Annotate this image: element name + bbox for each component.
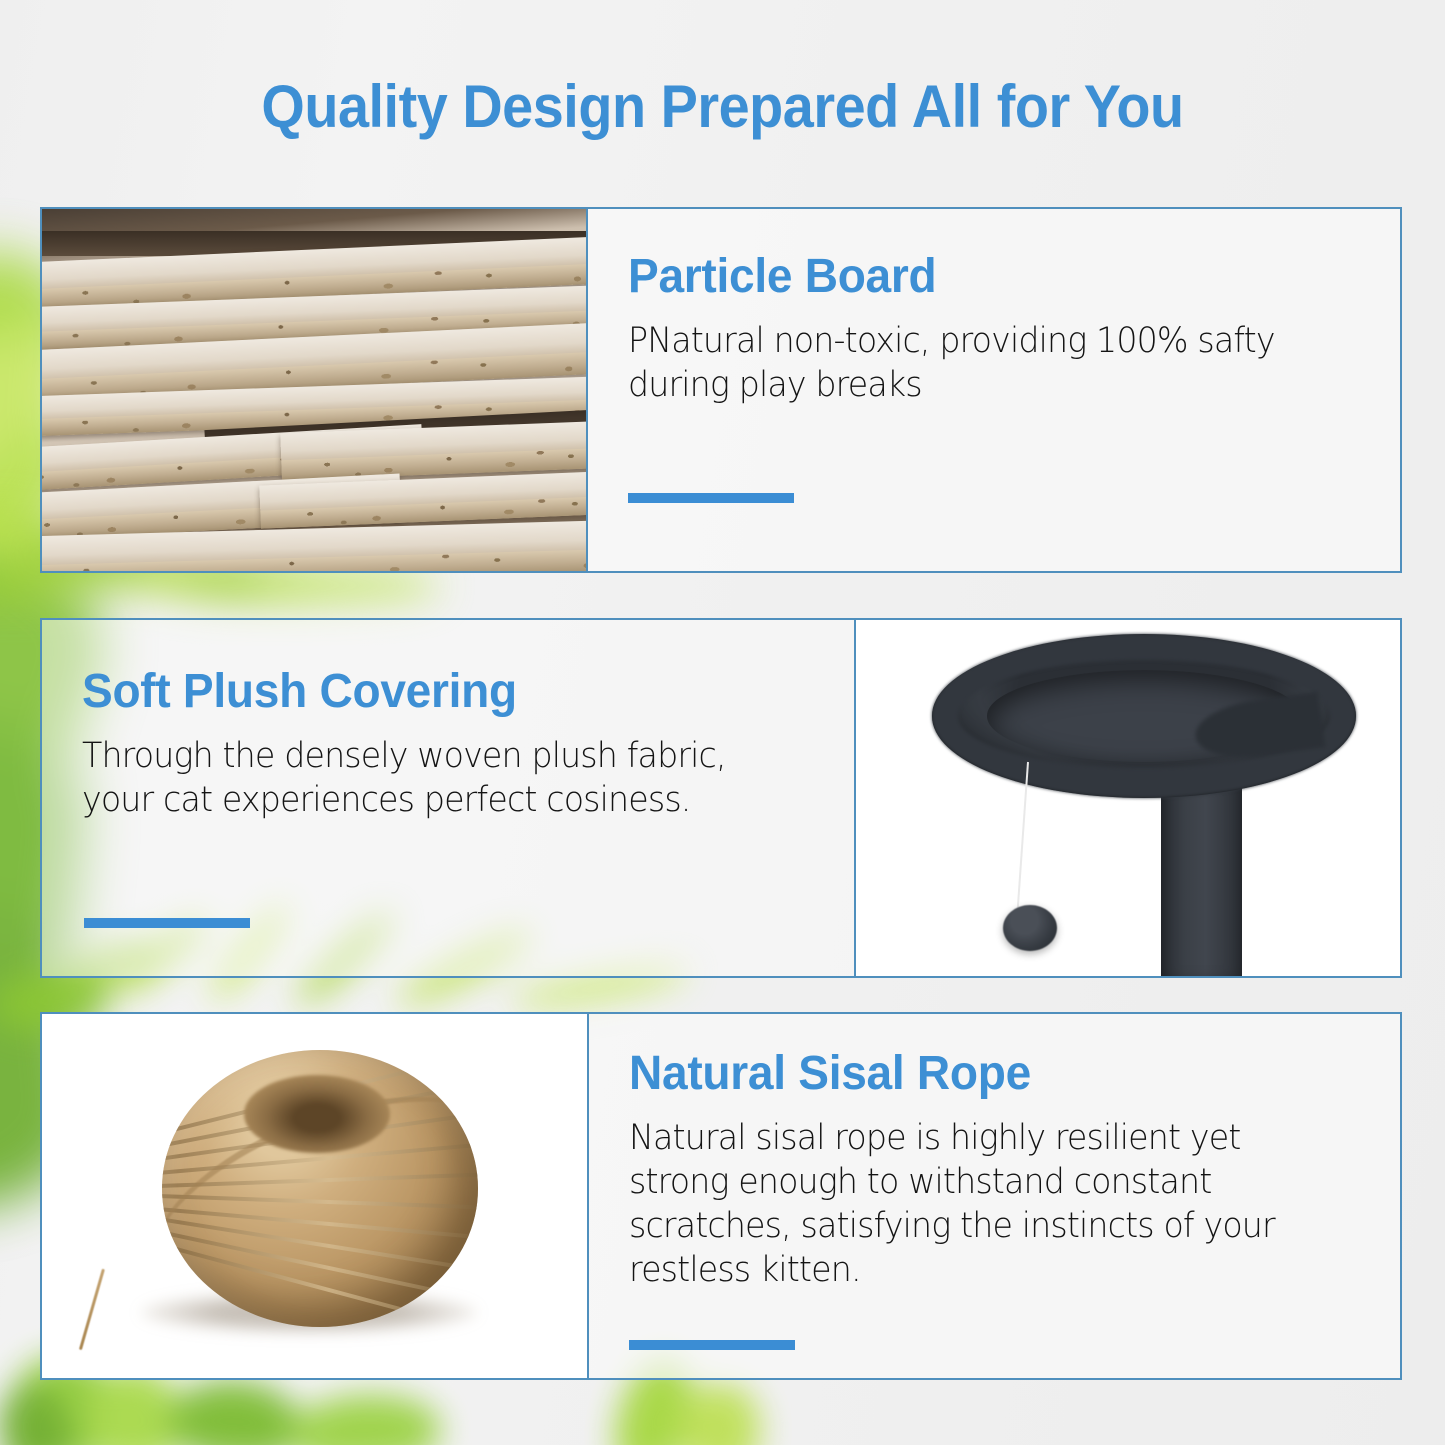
feature-text-natural-sisal-rope: Natural Sisal Rope Natural sisal rope is… [589, 1014, 1400, 1378]
feature-heading: Particle Board [628, 253, 1332, 301]
feature-image-soft-plush-covering [856, 620, 1400, 976]
plush-platform-bowl [932, 634, 1356, 798]
infographic-page: Quality Design Prepared All for You Part… [0, 0, 1445, 1445]
feature-text-soft-plush-covering: Soft Plush Covering Through the densely … [42, 620, 856, 976]
feature-text-particle-board: Particle Board PNatural non-toxic, provi… [588, 209, 1400, 571]
feature-body: Through the densely woven plush fabric, … [82, 734, 747, 822]
feature-body: Natural sisal rope is highly resilient y… [629, 1116, 1325, 1292]
rope-loose-end [79, 1268, 105, 1349]
plush-cat-tree-photo [856, 620, 1400, 976]
feature-card-particle-board: Particle Board PNatural non-toxic, provi… [40, 207, 1402, 573]
feature-card-natural-sisal-rope: Natural Sisal Rope Natural sisal rope is… [40, 1012, 1402, 1380]
pom-pom-toy [1003, 905, 1057, 951]
feature-heading: Natural Sisal Rope [629, 1050, 1333, 1098]
feature-image-particle-board [42, 209, 588, 571]
accent-underline-bar [628, 493, 794, 503]
accent-underline-bar [84, 918, 250, 928]
feature-heading: Soft Plush Covering [82, 668, 786, 716]
plush-post [1161, 777, 1243, 976]
accent-underline-bar [629, 1340, 795, 1350]
sisal-rope-ball-photo [42, 1014, 587, 1378]
dangling-string [1017, 762, 1029, 908]
feature-body: PNatural non-toxic, providing 100% safty… [628, 319, 1325, 407]
rope-ball [162, 1050, 478, 1327]
particle-board-photo [42, 209, 586, 571]
feature-card-soft-plush-covering: Soft Plush Covering Through the densely … [40, 618, 1402, 978]
feature-image-natural-sisal-rope [42, 1014, 589, 1378]
page-title: Quality Design Prepared All for You [51, 72, 1395, 141]
